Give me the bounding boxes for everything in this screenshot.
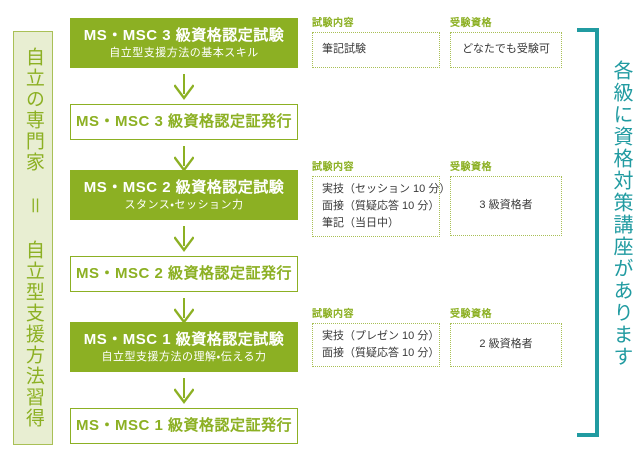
exam-node-2: MS・MSC 2 級資格認定試験スタンス・セッション力: [70, 170, 298, 220]
eligibility-lines: どなたでも受験可: [460, 41, 552, 58]
exam-content-line: 実技（セッション 10 分）: [322, 181, 450, 198]
node-subtitle: スタンス・セッション力: [71, 199, 297, 211]
exam-content-heading: 試験内容: [312, 305, 440, 320]
right-banner-text: 各級に資格対策講座があります: [600, 60, 634, 420]
certificate-node-1: MS・MSC 3 級資格認定証発行: [70, 104, 298, 140]
node-subtitle: 自立型支援方法の理解・伝える力: [71, 351, 297, 363]
eligibility-heading: 受験資格: [450, 158, 562, 173]
eligibility-box: 2 級資格者: [450, 323, 562, 367]
exam-content-box: 筆記試験: [312, 32, 440, 68]
exam-node-0: MS・MSC 3 級資格認定試験自立型支援方法の基本スキル: [70, 18, 298, 68]
eligibility-column: 受験資格どなたでも受験可: [450, 14, 562, 68]
node-title: MS・MSC 2 級資格認定証発行: [71, 257, 297, 291]
exam-content-line: 面接（質疑応答 10 分）: [322, 198, 450, 215]
node-title: MS・MSC 2 級資格認定試験: [71, 179, 297, 196]
node-title: MS・MSC 3 級資格認定試験: [71, 27, 297, 44]
exam-content-lines: 実技（プレゼン 10 分）面接（質疑応答 10 分）: [322, 328, 439, 362]
flow-arrow-4: [174, 378, 194, 404]
exam-content-line: 面接（質疑応答 10 分）: [322, 345, 439, 362]
left-banner-text: 自立の専門家 ＝ 自立型支援方法習得: [20, 47, 46, 429]
node-subtitle: 自立型支援方法の基本スキル: [71, 47, 297, 59]
exam-content-box: 実技（セッション 10 分）面接（質疑応答 10 分）筆記（当日中）: [312, 176, 440, 237]
exam-content-line: 実技（プレゼン 10 分）: [322, 328, 439, 345]
node-title: MS・MSC 1 級資格認定試験: [71, 331, 297, 348]
exam-content-column: 試験内容実技（プレゼン 10 分）面接（質疑応答 10 分）: [312, 305, 440, 367]
exam-content-lines: 筆記試験: [322, 41, 366, 58]
flow-arrow-2: [174, 226, 194, 252]
eligibility-line: 2 級資格者: [460, 336, 552, 353]
eligibility-box: どなたでも受験可: [450, 32, 562, 68]
eligibility-lines: 2 級資格者: [460, 336, 552, 353]
node-title: MS・MSC 1 級資格認定証発行: [71, 409, 297, 443]
certification-flow-diagram: 自立の専門家 ＝ 自立型支援方法習得 MS・MSC 3 級資格認定試験自立型支援…: [0, 0, 640, 459]
flow-arrow-3: [174, 298, 194, 324]
eligibility-heading: 受験資格: [450, 14, 562, 29]
eligibility-heading: 受験資格: [450, 305, 562, 320]
exam-content-heading: 試験内容: [312, 158, 440, 173]
flow-column: MS・MSC 3 級資格認定試験自立型支援方法の基本スキルMS・MSC 3 級資…: [70, 0, 298, 459]
flow-arrow-0: [174, 74, 194, 100]
exam-content-line: 筆記試験: [322, 41, 366, 58]
right-bracket-shape: [577, 28, 599, 437]
certificate-node-3: MS・MSC 2 級資格認定証発行: [70, 256, 298, 292]
eligibility-line: どなたでも受験可: [460, 41, 552, 58]
eligibility-box: 3 級資格者: [450, 176, 562, 236]
exam-content-line: 筆記（当日中）: [322, 215, 450, 232]
eligibility-lines: 3 級資格者: [460, 197, 552, 214]
eligibility-line: 3 級資格者: [460, 197, 552, 214]
certificate-node-5: MS・MSC 1 級資格認定証発行: [70, 408, 298, 444]
eligibility-column: 受験資格3 級資格者: [450, 158, 562, 236]
exam-node-4: MS・MSC 1 級資格認定試験自立型支援方法の理解・伝える力: [70, 322, 298, 372]
exam-content-lines: 実技（セッション 10 分）面接（質疑応答 10 分）筆記（当日中）: [322, 181, 450, 232]
left-vertical-banner: 自立の専門家 ＝ 自立型支援方法習得: [13, 31, 53, 445]
node-title: MS・MSC 3 級資格認定証発行: [71, 105, 297, 139]
exam-content-column: 試験内容筆記試験: [312, 14, 440, 68]
eligibility-column: 受験資格2 級資格者: [450, 305, 562, 367]
exam-content-heading: 試験内容: [312, 14, 440, 29]
exam-content-column: 試験内容実技（セッション 10 分）面接（質疑応答 10 分）筆記（当日中）: [312, 158, 440, 237]
exam-content-box: 実技（プレゼン 10 分）面接（質疑応答 10 分）: [312, 323, 440, 367]
flow-arrow-1: [174, 146, 194, 172]
